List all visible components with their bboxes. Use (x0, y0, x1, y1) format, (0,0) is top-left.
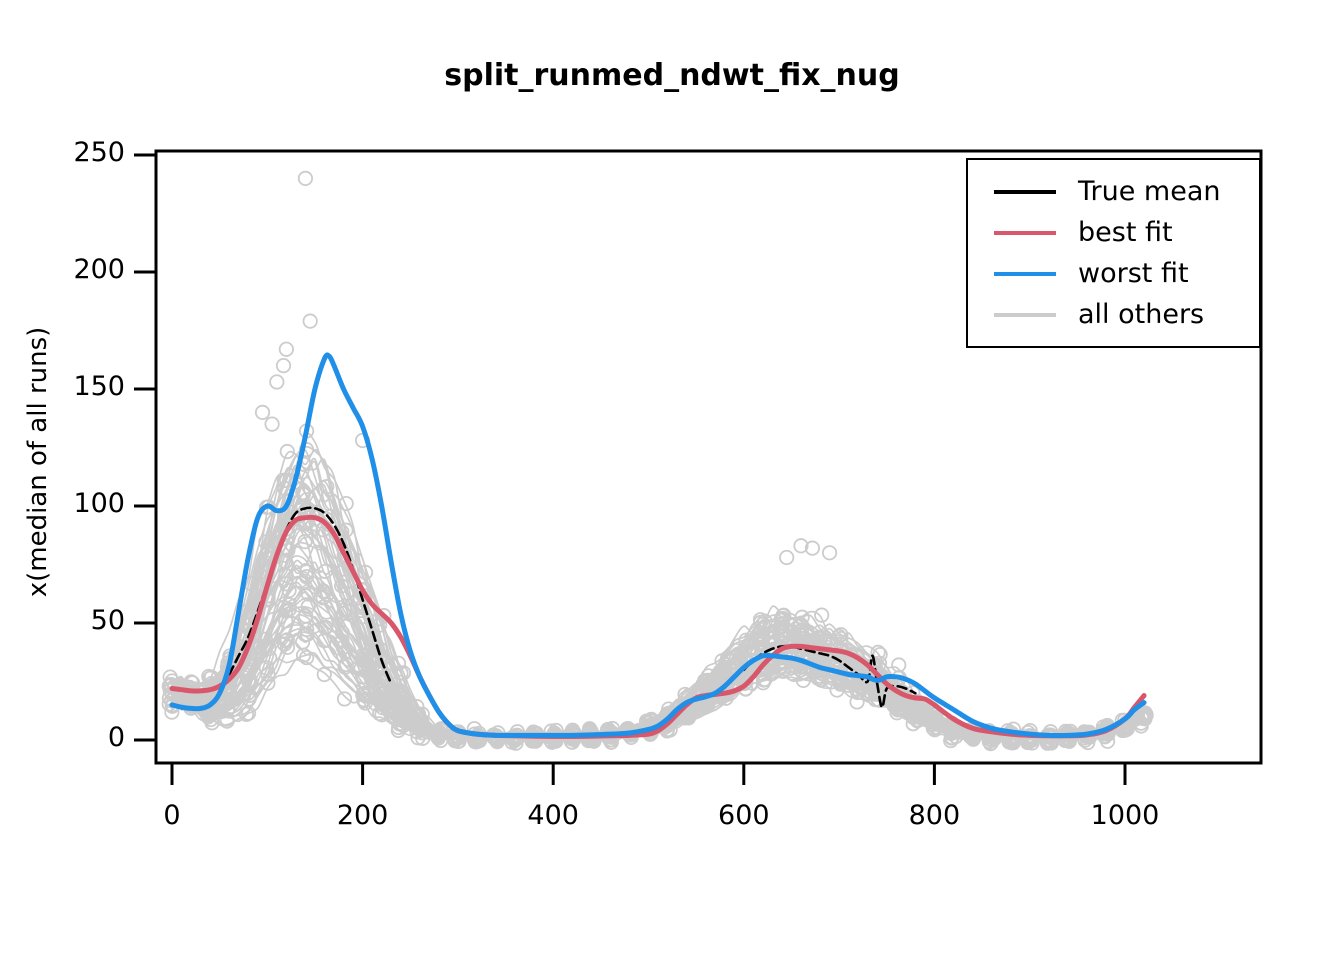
data-point-marker (823, 546, 836, 559)
legend-item-all-others[interactable]: all others (968, 295, 1259, 334)
data-point-marker (318, 668, 331, 681)
data-point-marker (265, 417, 278, 430)
data-point-marker (299, 172, 312, 185)
y-tick-label: 50 (0, 605, 125, 636)
data-point-marker (280, 343, 293, 356)
legend-swatch-icon (994, 313, 1056, 317)
legend-item-true-mean[interactable]: True mean (968, 172, 1259, 211)
legend-label: True mean (1078, 178, 1221, 205)
legend-label: worst fit (1078, 260, 1189, 287)
x-tick-label: 0 (112, 800, 232, 831)
x-tick-label: 400 (493, 800, 613, 831)
y-tick-label: 200 (0, 254, 125, 285)
x-tick-label: 1000 (1065, 800, 1185, 831)
y-tick-label: 100 (0, 488, 125, 519)
y-tick-label: 250 (0, 137, 125, 168)
y-tick-label: 0 (0, 722, 125, 753)
all-others-trace (172, 433, 1144, 738)
x-tick-label: 200 (303, 800, 423, 831)
data-point-marker (780, 551, 793, 564)
legend-item-best-fit[interactable]: best fit (968, 213, 1259, 252)
x-tick-label: 800 (874, 800, 994, 831)
data-point-marker (256, 406, 269, 419)
data-point-marker (277, 359, 290, 372)
all-others-trace (172, 510, 1144, 739)
data-point-marker (270, 375, 283, 388)
legend-swatch-icon (994, 190, 1056, 194)
legend-label: best fit (1078, 219, 1173, 246)
y-tick-label: 150 (0, 371, 125, 402)
legend-label: all others (1078, 301, 1204, 328)
x-tick-label: 600 (684, 800, 804, 831)
legend: True meanbest fitworst fitall others (966, 158, 1261, 348)
data-point-marker (303, 314, 316, 327)
all-others-trace (172, 529, 1144, 740)
legend-item-worst-fit[interactable]: worst fit (968, 254, 1259, 293)
chart-figure: split_runmed_ndwt_fix_nug x(median of al… (0, 0, 1344, 960)
legend-swatch-icon (994, 272, 1056, 276)
data-point-marker (338, 692, 351, 705)
legend-swatch-icon (994, 231, 1056, 235)
